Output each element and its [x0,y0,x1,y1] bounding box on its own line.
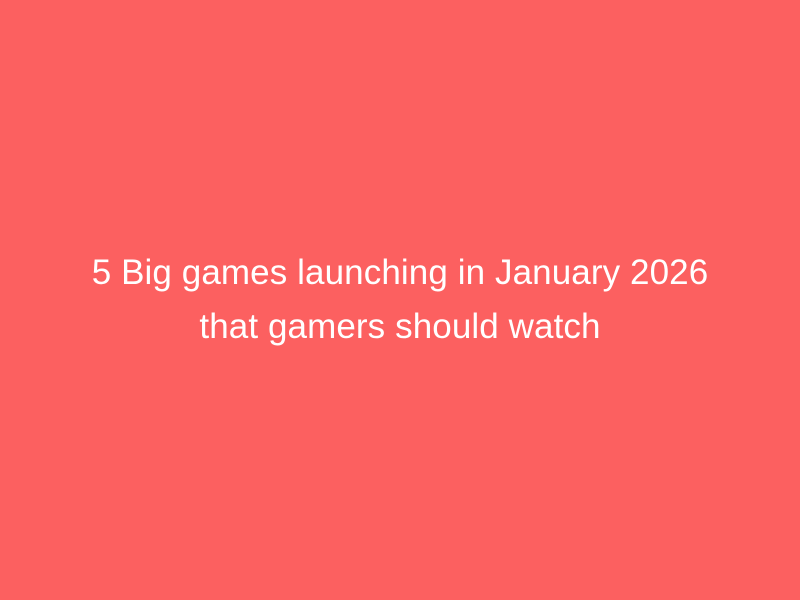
article-title-card[interactable]: 5 Big games launching in January 2026 th… [0,0,800,600]
article-headline: 5 Big games launching in January 2026 th… [70,246,730,354]
title-card-content: 5 Big games launching in January 2026 th… [70,246,730,354]
